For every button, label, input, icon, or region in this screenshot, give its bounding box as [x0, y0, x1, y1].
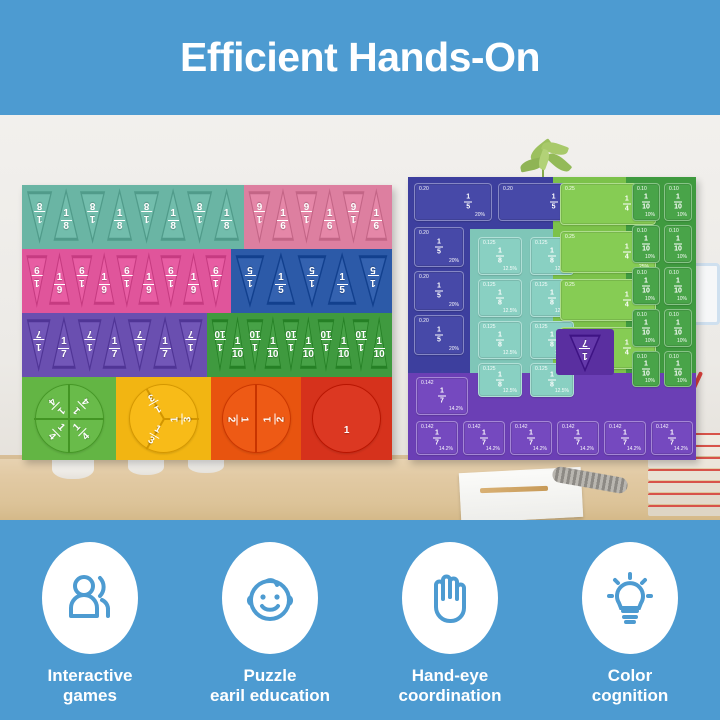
- percent-label: 14.2%: [627, 446, 641, 452]
- fraction-label: 110: [665, 236, 691, 253]
- value-tile-eighths[interactable]: 0.1251812.5%: [478, 321, 522, 359]
- fraction-label: 17: [558, 430, 598, 447]
- disc-divider: [68, 384, 70, 419]
- value-tile-sevenths[interactable]: 0.1421714.2%: [510, 421, 552, 455]
- value-tile-tenths[interactable]: 0.1011010%: [664, 351, 692, 387]
- feature-label: Hand-eye coordination: [399, 666, 502, 705]
- fraction-label: 110: [285, 328, 296, 351]
- percent-label: 12.5%: [555, 388, 569, 394]
- disc-divider: [69, 418, 104, 420]
- fraction-label: 110: [338, 337, 349, 360]
- fraction-label: 18: [168, 209, 179, 232]
- percent-label: 10%: [645, 296, 655, 302]
- fraction-label: 110: [633, 236, 659, 253]
- feature-banner: Interactive games Puzzle earil education: [0, 520, 720, 720]
- fraction-wedge[interactable]: 19: [202, 253, 230, 309]
- percent-label: 14.2%: [449, 406, 463, 412]
- lightbulb-icon: [582, 542, 678, 654]
- poster-stage: Efficient Hands-On: [0, 0, 720, 720]
- fraction-wedge[interactable]: 16: [362, 187, 391, 243]
- fraction-label: 15: [306, 264, 317, 287]
- fraction-label: 110: [303, 337, 314, 360]
- fraction-label: 18: [221, 209, 232, 232]
- percent-label: 20%: [475, 212, 485, 218]
- fraction-label: 19: [143, 273, 154, 296]
- percent-label: 12.5%: [503, 350, 517, 356]
- feature-label: Puzzle earil education: [210, 666, 330, 705]
- percent-label: 14.2%: [580, 446, 594, 452]
- board-row: 1717171717171711011011011011011011011011…: [22, 313, 392, 377]
- disc-divider: [255, 384, 257, 419]
- fraction-label: 15: [245, 264, 256, 287]
- percent-label: 12.5%: [503, 388, 517, 394]
- fraction-label: 16: [348, 200, 359, 223]
- fraction-label: 18: [114, 209, 125, 232]
- fraction-label: 16: [371, 209, 382, 232]
- fraction-label: 19: [99, 273, 110, 296]
- fraction-label: 110: [320, 328, 331, 351]
- decimal-label: 0.10: [637, 270, 647, 276]
- fraction-label: 16: [277, 209, 288, 232]
- fraction-label: 110: [374, 337, 385, 360]
- fraction-label: 110: [633, 320, 659, 337]
- fraction-label: 17: [417, 388, 467, 405]
- fraction-label: 15: [367, 264, 378, 287]
- baby-face-icon: [222, 542, 318, 654]
- fraction-label: 17: [511, 430, 551, 447]
- fraction-label: 17: [109, 337, 120, 360]
- percent-label: 20%: [449, 302, 459, 308]
- percent-label: 12.5%: [503, 308, 517, 314]
- feature-label: Color cognition: [592, 666, 668, 705]
- fraction-label: 13: [171, 410, 194, 428]
- percent-label: 20%: [449, 258, 459, 264]
- percent-label: 14.2%: [486, 446, 500, 452]
- decimal-label: 0.125: [535, 240, 548, 246]
- decimal-label: 0.10: [669, 270, 679, 276]
- fraction-label: 110: [250, 328, 261, 351]
- feature-label: Interactive games: [47, 666, 132, 705]
- value-tile-sevenths[interactable]: 0.1421714.2%: [463, 421, 505, 455]
- fraction-label: 15: [275, 273, 286, 296]
- board-row: 1414141413131312121: [22, 377, 392, 460]
- fraction-label: 19: [210, 264, 221, 287]
- fraction-label: 110: [633, 361, 659, 378]
- fraction-label: 110: [665, 320, 691, 337]
- decimal-label: 0.125: [535, 324, 548, 330]
- value-tile-fifths[interactable]: 0.201520%: [414, 271, 464, 311]
- fraction-group-[interactable]: 1: [301, 377, 392, 460]
- value-tile-tenths[interactable]: 0.1011010%: [632, 309, 660, 347]
- fraction-label: 15: [415, 283, 463, 300]
- fraction-label: 18: [479, 290, 521, 307]
- fraction-label: 17: [580, 338, 591, 361]
- percent-label: 14.2%: [674, 446, 688, 452]
- people-icon: [42, 542, 138, 654]
- fraction-group-9[interactable]: 191919191919191919: [22, 249, 231, 313]
- fraction-label: 15: [415, 327, 463, 344]
- fraction-wedge[interactable]: 15: [354, 253, 392, 309]
- fraction-group-8[interactable]: 1818181818181818: [22, 185, 244, 249]
- fraction-label: 18: [479, 248, 521, 265]
- fraction-label: 1: [338, 426, 356, 436]
- value-tile-sevenths[interactable]: 0.1421714.2%: [651, 421, 693, 455]
- fraction-circles-board[interactable]: 1818181818181818161616161616191919191919…: [22, 185, 392, 460]
- fraction-label: 18: [479, 372, 521, 389]
- decimal-label: 0.10: [669, 228, 679, 234]
- fraction-label: 110: [633, 194, 659, 211]
- fraction-label: 16: [324, 209, 335, 232]
- fraction-label: 110: [232, 337, 243, 360]
- decimal-label: 0.10: [637, 354, 647, 360]
- fraction-label: 17: [417, 430, 457, 447]
- decimal-label: 0.25: [565, 234, 575, 240]
- fraction-label: 17: [33, 328, 44, 351]
- value-tile-eighths[interactable]: 0.1251812.5%: [478, 363, 522, 397]
- fraction-label: 19: [121, 264, 132, 287]
- header-banner: Efficient Hands-On: [0, 0, 720, 115]
- percent-label: 12.5%: [503, 266, 517, 272]
- decimal-label: 0.10: [669, 186, 679, 192]
- decimal-label: 0.142: [421, 380, 434, 386]
- value-tile-eighths[interactable]: 0.1251812.5%: [478, 279, 522, 317]
- fraction-group-4[interactable]: 14141414: [22, 377, 116, 460]
- value-tile-tenths[interactable]: 0.1011010%: [664, 183, 692, 221]
- decimal-label: 0.10: [669, 312, 679, 318]
- fraction-label: 15: [337, 273, 348, 296]
- value-tile-tenths[interactable]: 0.1011010%: [664, 225, 692, 263]
- fraction-label: 18: [87, 200, 98, 223]
- fraction-group-2[interactable]: 1212: [211, 377, 302, 460]
- decimal-label: 0.125: [483, 282, 496, 288]
- fraction-label: 19: [188, 273, 199, 296]
- fraction-label: 18: [61, 209, 72, 232]
- feature-item[interactable]: Interactive games: [5, 542, 175, 705]
- decimal-label: 0.10: [637, 186, 647, 192]
- percent-label: 20%: [449, 346, 459, 352]
- fraction-label: 110: [665, 194, 691, 211]
- fraction-label: 19: [32, 264, 43, 287]
- fraction-group-5[interactable]: 1515151515: [231, 249, 392, 313]
- fraction-group-3[interactable]: 131313: [116, 377, 210, 460]
- fraction-label: 17: [134, 328, 145, 351]
- decimal-label: 0.10: [669, 354, 679, 360]
- fraction-label: 17: [58, 337, 69, 360]
- value-tile-eighths[interactable]: 0.1251812.5%: [478, 237, 522, 275]
- fraction-label: 110: [356, 328, 367, 351]
- decimal-label: 0.10: [637, 312, 647, 318]
- percent-label: 10%: [677, 254, 687, 260]
- fraction-label: 19: [54, 273, 65, 296]
- decimal-label: 0.20: [503, 186, 513, 192]
- mug-icon: [52, 457, 94, 479]
- decimal-label: 0.10: [637, 228, 647, 234]
- value-tile-tenths[interactable]: 0.1011010%: [664, 309, 692, 347]
- fraction-wedge[interactable]: 110: [368, 315, 390, 371]
- value-tile-sevenths[interactable]: 0.1421714.2%: [416, 377, 468, 415]
- decimal-label: 0.20: [419, 274, 429, 280]
- percent-label: 10%: [645, 378, 655, 384]
- percent-label: 10%: [645, 212, 655, 218]
- decimal-label: 0.125: [483, 240, 496, 246]
- percent-label: 10%: [645, 254, 655, 260]
- fraction-label: 110: [267, 337, 278, 360]
- disc-divider: [255, 419, 257, 454]
- percent-label: 10%: [677, 338, 687, 344]
- value-tile-tenths[interactable]: 0.1011010%: [664, 267, 692, 305]
- percent-label: 10%: [677, 378, 687, 384]
- fraction-label: 17: [652, 430, 692, 447]
- fraction-label: 110: [633, 278, 659, 295]
- fraction-label: 17: [160, 337, 171, 360]
- percent-label: 14.2%: [439, 446, 453, 452]
- decimal-label: 0.20: [419, 230, 429, 236]
- percent-label: 10%: [645, 338, 655, 344]
- fraction-wedge[interactable]: 17: [564, 333, 606, 373]
- fraction-label: 18: [34, 200, 45, 223]
- decimal-label: 0.20: [419, 186, 429, 192]
- disc-divider: [35, 418, 70, 420]
- fraction-label: 17: [464, 430, 504, 447]
- fraction-label: 17: [605, 430, 645, 447]
- value-tile-fifths[interactable]: 0.201520%: [414, 183, 492, 221]
- value-tile-tenths[interactable]: 0.1011010%: [632, 183, 660, 221]
- value-tile-tenths[interactable]: 0.1011010%: [632, 267, 660, 305]
- decimal-percent-board[interactable]: 0.201520%0.201520%0.201520%0.201520%0.20…: [408, 177, 696, 460]
- percent-label: 14.2%: [533, 446, 547, 452]
- decimal-label: 0.25: [565, 282, 575, 288]
- fraction-label: 15: [445, 194, 491, 211]
- fraction-label: 17: [84, 328, 95, 351]
- fraction-label: 19: [166, 264, 177, 287]
- fraction-group-6[interactable]: 161616161616: [244, 185, 392, 249]
- value-tile-fifths[interactable]: 0.201520%: [414, 315, 464, 355]
- feature-item[interactable]: Hand-eye coordination: [365, 542, 535, 705]
- page-title: Efficient Hands-On: [180, 34, 540, 81]
- value-tile-sevenths[interactable]: 0.1421714.2%: [604, 421, 646, 455]
- feature-item[interactable]: Color cognition: [545, 542, 715, 705]
- fraction-wedge[interactable]: 17: [175, 317, 206, 373]
- value-tile-sevenths[interactable]: 0.1421714.2%: [557, 421, 599, 455]
- fraction-wedge[interactable]: 18: [210, 187, 243, 243]
- hand-icon: [402, 542, 498, 654]
- fraction-label: 110: [214, 328, 225, 351]
- fraction-label: 18: [141, 200, 152, 223]
- decimal-label: 0.125: [535, 282, 548, 288]
- fraction-group-7[interactable]: 17171717171717: [22, 313, 207, 377]
- value-tile-fifths[interactable]: 0.201520%: [414, 227, 464, 267]
- disc-divider: [68, 419, 70, 454]
- fraction-group-10[interactable]: 110110110110110110110110110110: [207, 313, 392, 377]
- fraction-label: 110: [665, 361, 691, 378]
- fraction-label: 16: [254, 200, 265, 223]
- fraction-label: 18: [194, 200, 205, 223]
- board-row: 1818181818181818161616161616: [22, 185, 392, 249]
- decimal-label: 0.20: [419, 318, 429, 324]
- board-row: 1919191919191919191515151515: [22, 249, 392, 313]
- value-tile-tenths[interactable]: 0.1011010%: [632, 225, 660, 263]
- fraction-label: 12: [263, 410, 286, 428]
- product-scene: 1818181818181818161616161616191919191919…: [0, 115, 720, 520]
- fraction-label: 19: [76, 264, 87, 287]
- percent-label: 10%: [677, 212, 687, 218]
- decimal-label: 0.125: [483, 324, 496, 330]
- value-tile-sevenths[interactable]: 0.1421714.2%: [416, 421, 458, 455]
- percent-label: 10%: [677, 296, 687, 302]
- fraction-label: 16: [301, 200, 312, 223]
- fraction-label: 17: [185, 328, 196, 351]
- fraction-label: 12: [226, 410, 249, 428]
- fraction-disc[interactable]: [312, 384, 381, 453]
- decimal-label: 0.25: [565, 186, 575, 192]
- fraction-label: 110: [665, 278, 691, 295]
- value-tile-tenths[interactable]: 0.1011010%: [632, 351, 660, 387]
- feature-item[interactable]: Puzzle earil education: [185, 542, 355, 705]
- fraction-label: 15: [415, 239, 463, 256]
- fraction-label: 18: [479, 332, 521, 349]
